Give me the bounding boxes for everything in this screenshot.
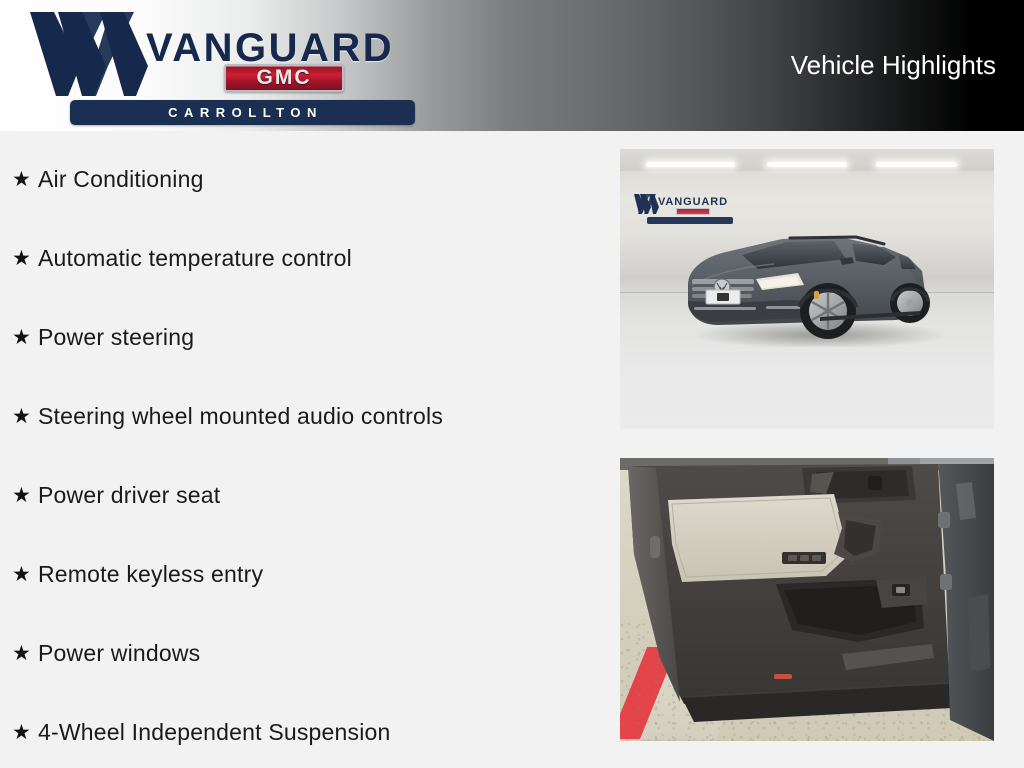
list-item: ★ Power windows — [0, 614, 600, 693]
list-item-label: Remote keyless entry — [38, 561, 263, 588]
list-item-label: Power windows — [38, 640, 200, 667]
door-trim-illustration — [620, 458, 994, 741]
list-item: ★ Remote keyless entry — [0, 535, 600, 614]
ceiling-light-icon — [767, 162, 847, 167]
page-title: Vehicle Highlights — [791, 50, 996, 81]
list-item: ★ Automatic temperature control — [0, 219, 600, 298]
list-item-label: Air Conditioning — [38, 166, 204, 193]
star-icon: ★ — [12, 564, 38, 585]
vehicle-highlights-list: ★ Air Conditioning ★ Automatic temperatu… — [0, 140, 600, 768]
location-banner: CARROLLTON — [70, 100, 415, 125]
list-item: ★ Power driver seat — [0, 456, 600, 535]
location-banner-label: CARROLLTON — [162, 105, 323, 120]
vehicle-photo-door-panel[interactable] — [620, 458, 994, 741]
vanguard-w-monogram-icon — [28, 10, 158, 98]
gmc-badge: GMC — [224, 64, 344, 92]
list-item: ★ Power steering — [0, 298, 600, 377]
ceiling-light-icon — [876, 162, 957, 167]
star-icon: ★ — [12, 327, 38, 348]
star-icon: ★ — [12, 485, 38, 506]
star-icon: ★ — [12, 643, 38, 664]
gmc-badge-label: GMC — [257, 66, 312, 90]
vanguard-w-monogram-icon — [634, 194, 660, 215]
star-icon: ★ — [12, 406, 38, 427]
suv-vehicle-image — [670, 207, 968, 347]
list-item: ★ Steering wheel mounted audio controls — [0, 377, 600, 456]
vehicle-photo-exterior[interactable]: VANGUARD — [620, 149, 994, 429]
ceiling — [620, 149, 994, 171]
list-item-label: Power driver seat — [38, 482, 220, 509]
page-header: VANGUARD GMC CARROLLTON Vehicle Highligh… — [0, 0, 1024, 131]
list-item-label: Power steering — [38, 324, 194, 351]
star-icon: ★ — [12, 169, 38, 190]
list-item: ★ Air Conditioning — [0, 140, 600, 219]
dealership-logo[interactable]: VANGUARD GMC CARROLLTON — [28, 8, 408, 123]
star-icon: ★ — [12, 722, 38, 743]
list-item: ★ 4-Wheel Independent Suspension — [0, 693, 600, 768]
list-item-label: 4-Wheel Independent Suspension — [38, 719, 391, 746]
logo-wordmark: VANGUARD — [146, 28, 394, 68]
showroom-background: VANGUARD — [620, 149, 994, 429]
list-item-label: Steering wheel mounted audio controls — [38, 403, 443, 430]
door-panel-background — [620, 458, 994, 741]
ceiling-light-icon — [646, 162, 735, 167]
star-icon: ★ — [12, 248, 38, 269]
list-item-label: Automatic temperature control — [38, 245, 352, 272]
